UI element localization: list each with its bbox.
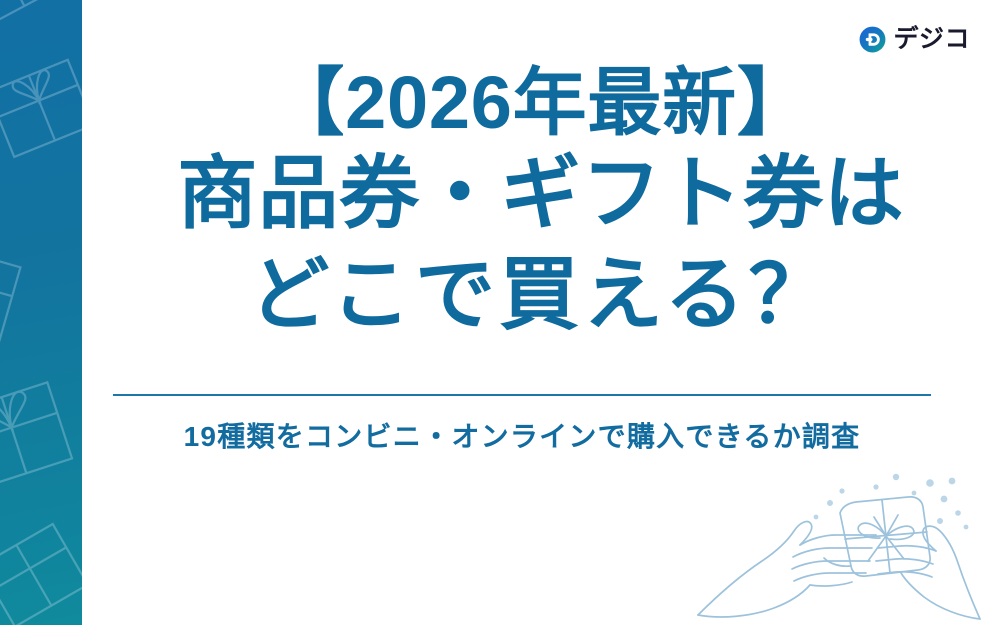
headline-line-1: 【2026年最新】 — [82, 62, 1000, 143]
brand-logo-text: デジコ — [893, 27, 970, 52]
banner-root: デジコ 【2026年最新】 商品券・ギフト券は どこで買える？ 19種類をコンビ… — [0, 0, 1000, 625]
headline-line-2: 商品券・ギフト券は — [82, 143, 1000, 245]
headline-line-3: どこで買える？ — [82, 246, 1000, 344]
decorative-sidebar — [0, 0, 82, 625]
gift-box-pattern-icon — [0, 0, 82, 625]
headline-block: 【2026年最新】 商品券・ギフト券は どこで買える？ — [82, 62, 1000, 343]
sparkles-icon — [814, 474, 969, 530]
hands-exchanging-gift-illustration — [690, 469, 986, 621]
subtitle-text: 19種類をコンビニ・オンラインで購入できるか調査 — [113, 418, 931, 456]
brand-logo[interactable]: デジコ — [859, 26, 970, 53]
headline-divider — [113, 394, 931, 396]
digico-circle-logo-icon — [859, 26, 886, 53]
